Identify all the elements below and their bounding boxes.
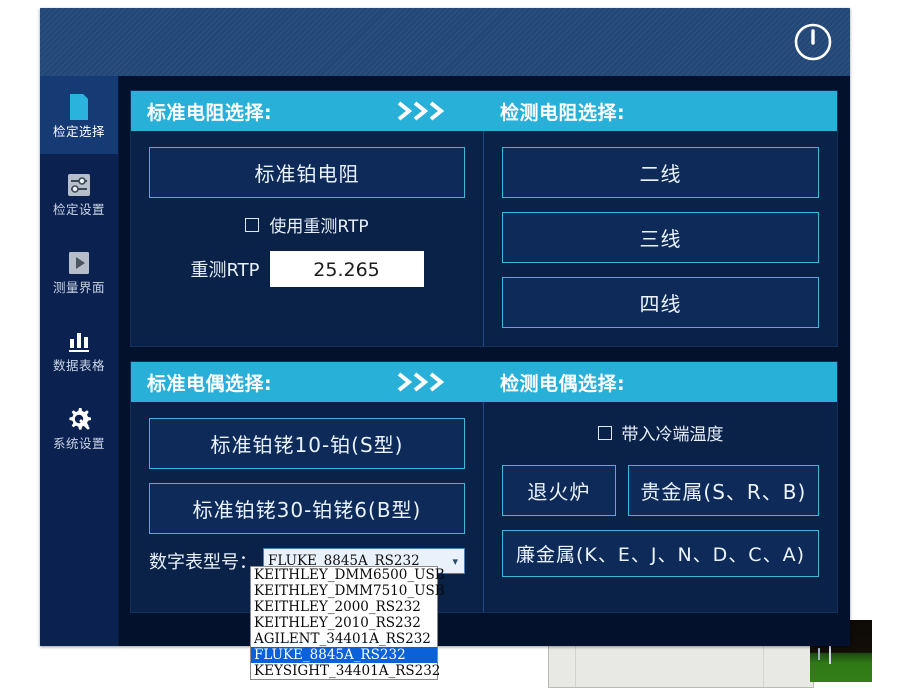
standard-b-type-button[interactable]: 标准铂铑30-铂铑6(B型) (149, 483, 465, 534)
power-button[interactable] (792, 21, 834, 63)
dmm-model-label: 数字表型号： (149, 548, 257, 574)
use-remeasure-rtp-row[interactable]: 使用重测RTP (149, 212, 465, 237)
four-wire-button[interactable]: 四线 (502, 277, 819, 328)
standard-platinum-resistance-button[interactable]: 标准铂电阻 (149, 147, 465, 198)
dropdown-option[interactable]: FLUKE_8845A_RS232 (251, 647, 437, 663)
noble-metal-button[interactable]: 贵金属(S、R、B) (628, 465, 819, 516)
title-bar (40, 8, 850, 77)
play-icon (67, 248, 91, 278)
detect-thermocouple-column: 带入冷端温度 退火炉 贵金属(S、R、B) 廉金属(K、E、J、N、D、C、A) (484, 402, 837, 612)
annealing-furnace-button[interactable]: 退火炉 (502, 465, 616, 516)
resistance-panel-body: 标准铂电阻 使用重测RTP 重测RTP 25.265 二线 (131, 131, 837, 346)
use-remeasure-rtp-checkbox[interactable] (245, 218, 259, 232)
standard-resistance-column: 标准铂电阻 使用重测RTP 重测RTP 25.265 (131, 131, 484, 346)
gear-icon (65, 404, 93, 434)
dmm-model-dropdown-list[interactable]: KEITHLEY_DMM6500_USBKEITHLEY_DMM7510_USB… (250, 566, 438, 680)
cold-junction-label: 带入冷端温度 (622, 420, 724, 445)
remeasure-rtp-input[interactable]: 25.265 (270, 251, 424, 287)
standard-s-type-button[interactable]: 标准铂铑10-铂(S型) (149, 418, 465, 469)
sidebar-item-label: 检定选择 (53, 126, 105, 139)
dropdown-option[interactable]: KEYSIGHT_34401A_RS232 (251, 663, 437, 679)
remeasure-rtp-row: 重测RTP 25.265 (149, 251, 465, 287)
sliders-icon (66, 170, 92, 200)
dropdown-option[interactable]: AGILENT_34401A_RS232 (251, 631, 437, 647)
thermocouple-panel-body: 标准铂铑10-铂(S型) 标准铂铑30-铂铑6(B型) 数字表型号： FLUKE… (131, 402, 837, 612)
document-icon (67, 92, 91, 122)
three-wire-button[interactable]: 三线 (502, 212, 819, 263)
power-icon (793, 22, 833, 62)
thermocouple-panel: 标准电偶选择: 检测电偶选择: 标准铂铑10-铂(S型) (130, 361, 838, 613)
dropdown-option[interactable]: KEITHLEY_2010_RS232 (251, 615, 437, 631)
sidebar-item-verification-settings[interactable]: 检定设置 (40, 154, 118, 232)
application-window: 检定选择 检定设置 (40, 8, 850, 646)
triple-chevron-right-icon (397, 371, 449, 393)
sidebar-item-label: 检定设置 (53, 204, 105, 217)
sidebar-item-label: 数据表格 (53, 360, 105, 373)
base-metal-button[interactable]: 廉金属(K、E、J、N、D、C、A) (502, 530, 819, 577)
bar-chart-icon (66, 326, 92, 356)
window-body: 检定选择 检定设置 (40, 76, 850, 646)
two-wire-button[interactable]: 二线 (502, 147, 819, 198)
detect-thermocouple-title: 检测电偶选择: (484, 369, 837, 396)
cold-junction-checkbox[interactable] (598, 426, 612, 440)
sidebar-item-label: 测量界面 (53, 282, 105, 295)
sidebar-item-data-table[interactable]: 数据表格 (40, 310, 118, 388)
desktop-background: 检定选择 检定设置 (0, 0, 900, 700)
dropdown-option[interactable]: KEITHLEY_DMM7510_USB (251, 583, 437, 599)
chevron-down-icon: ▾ (452, 555, 458, 568)
detect-resistance-column: 二线 三线 四线 (484, 131, 837, 346)
sidebar-item-system-settings[interactable]: 系统设置 (40, 388, 118, 466)
triple-chevron-right-icon (397, 100, 449, 122)
detect-resistance-title: 检测电阻选择: (484, 98, 837, 125)
thermocouple-panel-header: 标准电偶选择: 检测电偶选择: (131, 362, 837, 402)
sidebar-item-measurement-view[interactable]: 测量界面 (40, 232, 118, 310)
dropdown-option[interactable]: KEITHLEY_DMM6500_USB (251, 567, 437, 583)
use-remeasure-rtp-label: 使用重测RTP (269, 212, 368, 237)
cold-junction-row[interactable]: 带入冷端温度 (502, 420, 819, 445)
dropdown-option[interactable]: KEITHLEY_2000_RS232 (251, 599, 437, 615)
sidebar: 检定选择 检定设置 (40, 76, 119, 646)
remeasure-rtp-label: 重测RTP (190, 256, 259, 282)
detect-thermocouple-button-row: 退火炉 贵金属(S、R、B) (502, 465, 819, 530)
resistance-panel-header: 标准电阻选择: 检测电阻选择: (131, 91, 837, 131)
sidebar-item-verification-select[interactable]: 检定选择 (40, 76, 118, 154)
sidebar-item-label: 系统设置 (53, 438, 105, 451)
resistance-panel: 标准电阻选择: 检测电阻选择: 标准铂电阻 (130, 90, 838, 347)
content-area: 标准电阻选择: 检测电阻选择: 标准铂电阻 (118, 76, 850, 646)
